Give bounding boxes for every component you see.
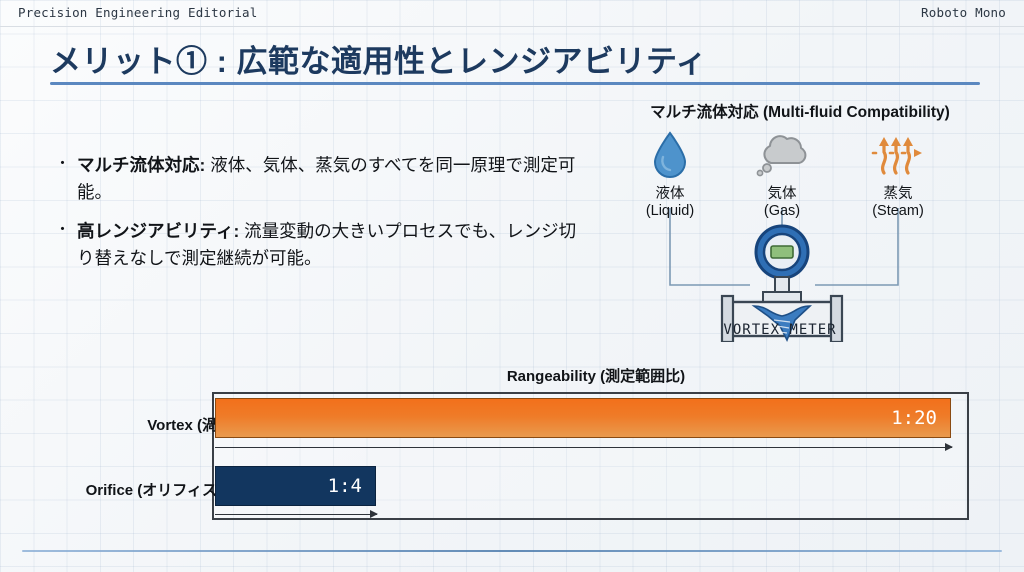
list-item: ・ マルチ流体対応: 液体、気体、蒸気のすべてを同一原理で測定可能。 — [55, 152, 585, 205]
steam-waves-icon — [850, 128, 946, 180]
arrow-head-icon — [945, 443, 953, 451]
chart-bar-orifice: 1:4 — [215, 466, 376, 506]
bullet-text: 高レンジアビリティ: 流量変動の大きいプロセスでも、レンジ切り替えなしで測定継続… — [77, 218, 585, 271]
fluid-liquid: 液体 (Liquid) — [622, 128, 718, 219]
fluid-steam: 蒸気 (Steam) — [850, 128, 946, 219]
fluid-label-jp: 液体 — [622, 182, 718, 203]
bullet-list: ・ マルチ流体対応: 液体、気体、蒸気のすべてを同一原理で測定可能。 ・ 高レン… — [55, 152, 585, 284]
list-item: ・ 高レンジアビリティ: 流量変動の大きいプロセスでも、レンジ切り替えなしで測定… — [55, 218, 585, 271]
page-title: メリット① : 広範な適用性とレンジアビリティ — [50, 36, 707, 81]
slide-header: Precision Engineering Editorial Roboto M… — [0, 0, 1024, 27]
title-underline — [50, 82, 980, 85]
chart-category-label-orifice: Orifice (オリフィス) — [86, 479, 222, 500]
fluid-label-jp: 蒸気 — [850, 182, 946, 203]
fluid-label-en: (Liquid) — [622, 203, 718, 219]
gas-cloud-icon — [734, 128, 830, 180]
chart-bar-vortex: 1:20 — [215, 398, 951, 438]
bullet-marker: ・ — [55, 218, 70, 242]
fluid-gas: 気体 (Gas) — [734, 128, 830, 219]
bullet-text: マルチ流体対応: 液体、気体、蒸気のすべてを同一原理で測定可能。 — [77, 152, 585, 205]
chart-title: Rangeability (測定範囲比) — [212, 365, 980, 386]
meter-label: VORTEX METER — [680, 322, 880, 338]
slide-canvas: Precision Engineering Editorial Roboto M… — [0, 0, 1024, 572]
chart-axis-arrow-orifice — [215, 514, 377, 515]
water-drop-icon — [622, 128, 718, 180]
multifluid-diagram: マルチ流体対応 (Multi-fluid Compatibility) 液体 (… — [600, 100, 1000, 350]
bullet-marker: ・ — [55, 152, 70, 176]
bullet-lead: マルチ流体対応: — [77, 155, 205, 175]
chart-axis-arrow-vortex — [215, 447, 952, 448]
bullet-lead: 高レンジアビリティ: — [77, 221, 239, 241]
header-right-label: Roboto Mono — [921, 5, 1006, 20]
fluid-label-en: (Gas) — [734, 203, 830, 219]
chart-category-label-vortex: Vortex (渦) — [147, 414, 222, 435]
header-left-label: Precision Engineering Editorial — [18, 5, 258, 20]
fluid-label-jp: 気体 — [734, 182, 830, 203]
fluid-label-en: (Steam) — [850, 203, 946, 219]
arrow-head-icon — [370, 510, 378, 518]
rangeability-chart: Rangeability (測定範囲比) — [0, 360, 1024, 530]
footer-rule — [22, 550, 1002, 552]
